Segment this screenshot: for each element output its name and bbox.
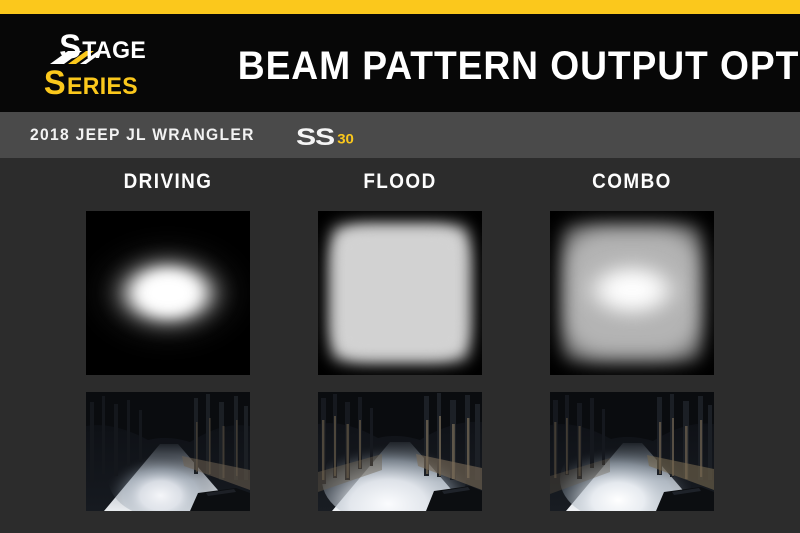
subheader-band: 2018 JEEP JL WRANGLER SS 30 [0, 112, 800, 158]
combo-beam-vignette [550, 211, 714, 375]
driving-beam-pattern [86, 211, 250, 375]
model-prefix: SS [296, 123, 334, 150]
combo-beam-pattern [550, 211, 714, 375]
svg-text:S: S [59, 28, 80, 66]
driving-beam-hotspot [104, 250, 232, 336]
svg-text:ERIES: ERIES [67, 73, 138, 100]
combo-road-photo [550, 392, 714, 511]
column-label-driving: DRIVING [94, 170, 242, 194]
beam-comparison-grid: DRIVING [0, 158, 800, 533]
stage-series-logo: S TAGE S ERIES [42, 24, 182, 100]
model-number: 30 [337, 131, 354, 146]
flood-road-photo [318, 392, 482, 511]
svg-text:S: S [44, 64, 65, 100]
beam-pattern-infographic: S TAGE S ERIES BEAM PATTERN OUTPUT OPTIO… [0, 0, 800, 533]
top-accent-bar [0, 0, 800, 14]
subheader-content: 2018 JEEP JL WRANGLER SS 30 [30, 112, 354, 158]
driving-road-photo [86, 392, 250, 511]
page-title: BEAM PATTERN OUTPUT OPTIONS [238, 43, 763, 89]
column-label-combo: COMBO [558, 170, 706, 194]
flood-beam-vignette [318, 211, 482, 375]
vehicle-name: 2018 JEEP JL WRANGLER [30, 125, 255, 145]
svg-text:TAGE: TAGE [82, 37, 146, 64]
flood-beam-pattern [318, 211, 482, 375]
column-label-flood: FLOOD [326, 170, 474, 194]
model-badge: SS 30 [296, 120, 354, 151]
